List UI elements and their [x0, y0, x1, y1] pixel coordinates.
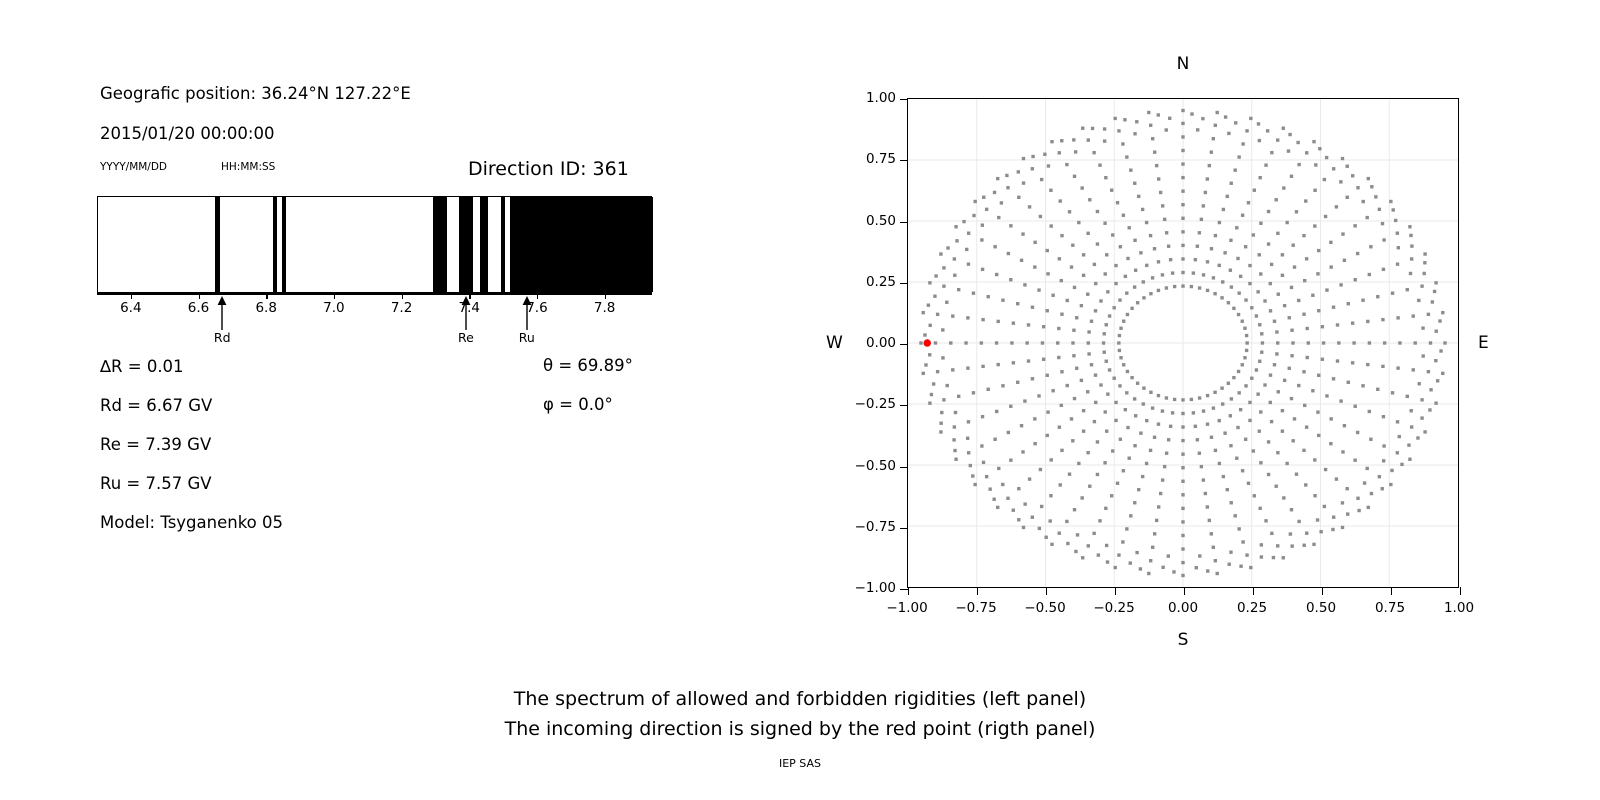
x-axis-tick [1322, 587, 1323, 595]
caption-line-2: The incoming direction is signed by the … [0, 718, 1600, 740]
rigidity-tick-label: 7.2 [391, 300, 412, 316]
x-axis-tick-label: 0.50 [1306, 600, 1336, 616]
theta-value: θ = 69.89° [543, 356, 633, 375]
time-format-hint: HH:MM:SS [221, 161, 275, 173]
rigidity-tick [402, 293, 403, 299]
y-axis-tick-label: −0.25 [855, 396, 907, 412]
x-axis-tick [1046, 587, 1047, 595]
forbidden-band [273, 197, 277, 292]
marker-label-ru: Ru [519, 330, 535, 345]
rigidity-tick [199, 293, 200, 299]
rigidity-tick-label: 6.6 [188, 300, 209, 316]
marker-arrow-re-icon [459, 296, 473, 330]
geographic-position-label: Geografic position: 36.24°N 127.22°E [100, 84, 411, 103]
y-axis-tick-label: 0.00 [866, 335, 907, 351]
y-axis-tick-label: −1.00 [855, 580, 907, 596]
ru-value: Ru = 7.57 GV [100, 474, 212, 493]
x-axis-tick-label: 1.00 [1444, 600, 1474, 616]
marker-arrow-rd-icon [215, 296, 229, 330]
re-value: Re = 7.39 GV [100, 435, 211, 454]
rigidity-spectrum-panel: Geografic position: 36.24°N 127.22°E 201… [0, 0, 760, 660]
marker-label-re: Re [458, 330, 474, 345]
forbidden-band [501, 197, 505, 292]
rigidity-tick [131, 293, 132, 299]
caption-line-1: The spectrum of allowed and forbidden ri… [0, 688, 1600, 710]
y-axis-tick-label: −0.50 [855, 458, 907, 474]
x-axis-tick [1115, 587, 1116, 595]
marker-arrow-ru-icon [520, 296, 534, 330]
rigidity-tick [605, 293, 606, 299]
y-axis-tick-label: 0.50 [866, 213, 907, 229]
compass-south-label: S [1178, 630, 1189, 650]
x-axis-tick [1391, 587, 1392, 595]
date-format-hint: YYYY/MM/DD [100, 161, 167, 173]
rigidity-tick-label: 7.8 [594, 300, 615, 316]
x-axis-tick-label: 0.75 [1375, 600, 1405, 616]
compass-north-label: N [1177, 54, 1190, 74]
polar-scatter-plot [907, 98, 1459, 588]
forbidden-band [282, 197, 286, 292]
direction-points [908, 99, 1458, 587]
rd-value: Rd = 6.67 GV [100, 396, 212, 415]
incoming-direction-point [924, 339, 931, 346]
x-axis-tick-label: −1.00 [886, 600, 927, 616]
rigidity-tick [334, 293, 335, 299]
rigidity-tick [266, 293, 267, 299]
y-axis-tick-label: 0.25 [866, 274, 907, 290]
x-axis-tick-label: −0.50 [1024, 600, 1065, 616]
y-axis-tick-label: −0.75 [855, 519, 907, 535]
x-axis-tick-label: −0.75 [955, 600, 996, 616]
compass-west-label: W [826, 333, 843, 353]
rigidity-spectrum-bar [97, 196, 652, 293]
marker-label-rd: Rd [214, 330, 231, 345]
x-axis-tick [977, 587, 978, 595]
x-axis-tick-label: −0.25 [1093, 600, 1134, 616]
y-axis-tick-label: 0.75 [866, 151, 907, 167]
x-axis-tick-label: 0.00 [1168, 600, 1198, 616]
x-axis-tick [1184, 587, 1185, 595]
direction-polar-panel: −1.00−0.75−0.50−0.250.000.250.500.751.00… [830, 40, 1530, 660]
x-axis-tick [1460, 587, 1461, 595]
forbidden-band [433, 197, 447, 292]
rigidity-tick-label: 7.0 [323, 300, 344, 316]
forbidden-band [459, 197, 474, 292]
x-axis-tick-label: 0.25 [1237, 600, 1267, 616]
datetime-label: 2015/01/20 00:00:00 [100, 124, 274, 143]
x-axis-tick [1253, 587, 1254, 595]
direction-id-label: Direction ID: 361 [468, 158, 629, 180]
model-value: Model: Tsyganenko 05 [100, 513, 283, 532]
delta-r-value: ∆R = 0.01 [100, 357, 184, 376]
rigidity-tick [537, 293, 538, 299]
x-axis-tick [908, 587, 909, 595]
rigidity-tick-label: 6.8 [255, 300, 276, 316]
forbidden-band [480, 197, 487, 292]
rigidity-axis-line [97, 293, 652, 295]
footer-credit: IEP SAS [0, 757, 1600, 770]
y-axis-tick-label: 1.00 [866, 90, 907, 106]
phi-value: φ = 0.0° [543, 395, 613, 414]
rigidity-tick-label: 6.4 [120, 300, 141, 316]
forbidden-band [215, 197, 220, 292]
forbidden-band [510, 197, 653, 292]
compass-east-label: E [1478, 333, 1489, 353]
